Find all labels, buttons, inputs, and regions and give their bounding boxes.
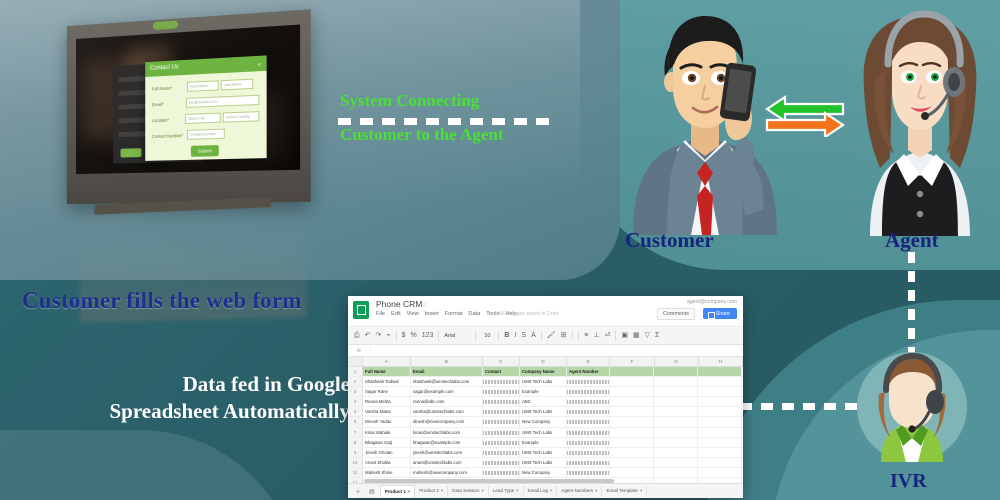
undo-icon[interactable]: ↶ [365, 332, 371, 339]
table-header-row: 1 Full Name Email Contact Company Name A… [348, 367, 743, 377]
label-customer: Customer [625, 228, 714, 253]
label-system-line2: Customer to the Agent [340, 126, 550, 143]
sheet-tab-label: Email Template [606, 488, 637, 493]
empty-cell[interactable] [654, 407, 698, 416]
select-all-corner[interactable] [348, 357, 363, 366]
label-customer-fills-webform: Customer fills the web form [22, 288, 302, 314]
close-icon[interactable]: × [257, 58, 261, 74]
table-row[interactable]: 5Varsha Malavvarsha@umstechlabs.com7831x… [348, 407, 743, 417]
cell-agent-number[interactable]: 022-63xxxxxxx [567, 397, 610, 406]
form-field-location: Location* Select City Select Country [152, 111, 259, 125]
fill-color-icon[interactable]: 🖌 [547, 332, 556, 339]
row-number[interactable]: 8 [348, 438, 363, 447]
cell-full-name[interactable]: Mahesh Shine [363, 468, 411, 477]
row-number[interactable]: 3 [348, 387, 363, 396]
comments-button[interactable]: Comments [657, 308, 695, 320]
empty-cell[interactable] [610, 468, 654, 477]
country-select[interactable]: Select Country [223, 111, 260, 123]
formula-bar[interactable]: fx [348, 345, 743, 357]
empty-cell[interactable] [698, 417, 742, 426]
label-data-fed: Data fed in Google Spreadsheet Automatic… [20, 371, 350, 425]
table-row[interactable]: 3Sagar Ranesagar@example.com9821xxxxxxxE… [348, 387, 743, 397]
contact-form-title: Contact Us [150, 64, 179, 71]
spreadsheet-title[interactable]: Phone CRM [376, 299, 422, 309]
cell-agent-number[interactable]: 022-63xxxxxxx [567, 377, 610, 386]
monitor-brand-logo-icon [153, 20, 178, 30]
account-email[interactable]: agent@company.com [687, 299, 737, 305]
chevron-down-icon[interactable]: ▾ [516, 488, 518, 493]
column-header-c[interactable]: C [483, 357, 520, 366]
borders-icon[interactable]: ⊞ [561, 332, 567, 339]
row-number[interactable]: 6 [348, 417, 363, 426]
column-header-h[interactable]: H [699, 357, 743, 366]
sheet-tab-bar: ＋ ▤ Product 1▾Product 2▾Data Session▾Lea… [348, 483, 743, 498]
connector-agent-to-ivr [908, 252, 915, 360]
connector-spreadsheet-to-ivr [740, 403, 862, 410]
row-number[interactable]: 4 [348, 397, 363, 406]
google-sheets-window: Phone CRM ☆ File Edit View Insert Format… [348, 296, 743, 498]
cell-email[interactable]: mahesh@newcompany.com [411, 468, 483, 477]
cell-company-name[interactable]: New Company [520, 417, 567, 426]
chevron-down-icon[interactable]: ▾ [482, 488, 484, 493]
chevron-down-icon[interactable]: ▾ [640, 488, 642, 493]
table-row[interactable]: 6Dinesh Yadavdinesh@newcompany.com9951xx… [348, 417, 743, 427]
two-way-connection-arrow [765, 93, 845, 137]
sheet-tab-product-2[interactable]: Product 2▾ [415, 486, 448, 497]
strikethrough-icon[interactable]: S [521, 332, 526, 339]
label-agent: Agent [885, 228, 939, 253]
cell-agent-number[interactable]: 022-63xxxxxxx [567, 428, 610, 437]
chevron-down-icon[interactable]: ▾ [441, 488, 443, 493]
menu-insert[interactable]: Insert [425, 311, 439, 317]
sheet-tab-product-1[interactable]: Product 1▾ [380, 485, 416, 497]
font-family-selector[interactable]: Arial [444, 333, 470, 339]
percent-icon[interactable]: % [410, 332, 416, 339]
sheet-tab-lead-type[interactable]: Lead Type▾ [489, 486, 524, 497]
filter-icon[interactable]: ▽ [645, 332, 650, 339]
header-company-name[interactable]: Company Name [520, 367, 567, 376]
empty-cell[interactable] [698, 458, 742, 467]
cell-email[interactable]: bhagwan@example.com [411, 438, 483, 447]
header-full-name[interactable]: Full Name [363, 367, 411, 376]
label-datafed-line1: Data fed in Google [183, 372, 350, 396]
empty-cell[interactable] [610, 367, 654, 376]
chevron-down-icon[interactable]: ▾ [550, 488, 552, 493]
cell-contact[interactable]: 7831xxxxxxx [483, 407, 520, 416]
background-webpage-button[interactable] [121, 148, 142, 157]
print-icon[interactable]: ⎙ [354, 332, 360, 339]
column-headers: A B C D E F G H [348, 357, 743, 367]
cell-company-name[interactable]: UMS Tech Labs [520, 377, 567, 386]
cell-contact[interactable]: 9894xxxxxxx [483, 377, 520, 386]
cell-full-name[interactable]: Shashank Todwal [363, 377, 411, 386]
cell-full-name[interactable]: Varsha Malav [363, 407, 411, 416]
empty-cell[interactable] [654, 387, 698, 396]
redo-icon[interactable]: ↷ [375, 332, 381, 339]
form-label-location: Location* [152, 117, 183, 123]
row-number[interactable]: 11 [348, 468, 363, 477]
menu-view[interactable]: View [407, 311, 419, 317]
header-agent-number[interactable]: Agent Number [567, 367, 610, 376]
agent-illustration [840, 8, 1000, 236]
submit-button[interactable]: Submit [191, 145, 219, 157]
list-icon[interactable]: ▤ [366, 488, 378, 495]
sheet-tab-email-log[interactable]: Email Log▾ [524, 486, 558, 497]
column-header-d[interactable]: D [520, 357, 567, 366]
empty-cell[interactable] [610, 417, 654, 426]
cell-contact[interactable]: 9805xxxxxxx [483, 397, 520, 406]
sheets-menubar: File Edit View Insert Format Data Tools … [376, 311, 517, 317]
functions-icon[interactable]: Σ [655, 332, 659, 339]
form-field-email: Email* info@domain.com [152, 95, 259, 110]
label-system-line1: System Connecting [340, 91, 479, 110]
header-email[interactable]: Email [411, 367, 483, 376]
contact-form-body: Full Name* First Name Last Name Email* i… [145, 71, 266, 158]
cell-company-name[interactable]: UMS Tech Labs [520, 407, 567, 416]
cell-company-name[interactable]: ABC [520, 397, 567, 406]
form-label-email: Email* [152, 101, 184, 107]
city-select[interactable]: Select City [185, 113, 221, 124]
empty-cell[interactable] [610, 387, 654, 396]
sheets-toolbar: ⎙ ↶ ↷ ⌁ $ % 123 Arial 10 B I S A 🖌 ⊞ ⫶ ≡… [348, 327, 743, 345]
star-icon[interactable]: ☆ [422, 301, 427, 308]
vertical-align-icon[interactable]: ⊥ [593, 332, 599, 339]
empty-cell[interactable] [610, 448, 654, 457]
row-number[interactable]: 2 [348, 377, 363, 386]
column-header-g[interactable]: G [655, 357, 699, 366]
form-label-fullname: Full Name* [152, 84, 185, 91]
cell-agent-number[interactable]: 022-63xxxxxxx [567, 458, 610, 467]
column-header-e[interactable]: E [567, 357, 610, 366]
cell-email[interactable]: varsha@umstechlabs.com [411, 407, 483, 416]
cell-contact[interactable]: 9951xxxxxxx [483, 417, 520, 426]
label-datafed-line2: Spreadsheet Automatically [109, 399, 350, 423]
empty-cell[interactable] [698, 387, 742, 396]
row-number[interactable]: 5 [348, 407, 363, 416]
text-wrap-icon[interactable]: ⏎ [604, 332, 610, 339]
cell-contact[interactable]: 9346xxxxxxx [483, 458, 520, 467]
contact-number-input[interactable]: Contact Number [187, 129, 225, 140]
empty-cell[interactable] [610, 428, 654, 437]
row-number[interactable]: 10 [348, 458, 363, 467]
contact-form-modal: Contact Us × Full Name* First Name Last … [145, 55, 266, 160]
label-system-connecting: System Connecting Customer to the Agent [340, 92, 550, 143]
font-size-selector[interactable]: 10 [481, 333, 493, 339]
empty-cell[interactable] [654, 367, 698, 376]
cell-full-name[interactable]: Anant Shukla [363, 458, 411, 467]
empty-cell[interactable] [610, 397, 654, 406]
cell-contact[interactable]: 7965xxxxxxx [483, 468, 520, 477]
menu-file[interactable]: File [376, 311, 385, 317]
empty-cell[interactable] [698, 438, 742, 447]
empty-cell[interactable] [654, 417, 698, 426]
cell-email[interactable]: dinesh@newcompany.com [411, 417, 483, 426]
sheet-tab-label: Product 2 [419, 488, 439, 493]
spreadsheet-grid[interactable]: A B C D E F G H 1 Full Name Email Contac… [348, 357, 743, 498]
google-sheets-icon [353, 301, 369, 319]
cell-company-name[interactable]: Example [520, 387, 567, 396]
currency-icon[interactable]: $ [402, 332, 406, 339]
cell-email[interactable]: shashank@umstechlabs.com [411, 377, 483, 386]
cell-agent-number[interactable]: 022-63xxxxxxx [567, 468, 610, 477]
form-label-contact: Contact Number* [152, 132, 185, 138]
sheet-tab-label: Email Log [528, 488, 548, 493]
bold-icon[interactable]: B [504, 332, 509, 339]
table-row[interactable]: 7Kiran Mahalekiran@umstechlabs.com7831xx… [348, 428, 743, 438]
cell-agent-number[interactable]: 022-63xxxxxxx [567, 438, 610, 447]
sheet-tab-email-template[interactable]: Email Template▾ [602, 486, 647, 497]
cell-full-name[interactable]: Kiran Mahale [363, 428, 411, 437]
table-row[interactable]: 11Mahesh Shinemahesh@newcompany.com7965x… [348, 468, 743, 478]
cell-agent-number[interactable]: 022-63xxxxxxx [567, 387, 610, 396]
last-name-input[interactable]: Last Name [221, 79, 253, 91]
plus-icon[interactable]: ＋ [352, 487, 364, 496]
menu-edit[interactable]: Edit [391, 311, 401, 317]
empty-cell[interactable] [698, 448, 742, 457]
empty-cell[interactable] [698, 377, 742, 386]
column-header-a[interactable]: A [363, 357, 411, 366]
text-color-icon[interactable]: A [531, 332, 536, 339]
cell-company-name[interactable]: UMS Tech Labs [520, 428, 567, 437]
empty-cell[interactable] [610, 377, 654, 386]
column-header-b[interactable]: B [411, 357, 483, 366]
empty-cell[interactable] [698, 397, 742, 406]
merge-cells-icon[interactable]: ⫶ [572, 332, 574, 339]
cell-email[interactable]: anant@umstechlabs.com [411, 458, 483, 467]
empty-cell[interactable] [654, 468, 698, 477]
cell-company-name[interactable]: New Company [520, 468, 567, 477]
insert-link-icon[interactable]: ▣ [621, 332, 628, 339]
cell-full-name[interactable]: Jinesh Gholan [363, 448, 411, 457]
cell-contact[interactable]: 9821xxxxxxx [483, 387, 520, 396]
table-row[interactable]: 10Anant Shuklaanant@umstechlabs.com9346x… [348, 458, 743, 468]
empty-cell[interactable] [654, 448, 698, 457]
form-field-contact: Contact Number* Contact Number [152, 128, 259, 141]
empty-cell[interactable] [654, 438, 698, 447]
sheet-tab-label: Agent Numbers [561, 488, 593, 493]
empty-cell[interactable] [654, 397, 698, 406]
cell-email[interactable]: sagar@example.com [411, 387, 483, 396]
empty-cell[interactable] [610, 407, 654, 416]
row-number[interactable]: 1 [348, 367, 363, 376]
table-row[interactable]: 8Bhagwan Garjbhagwan@example.com8861xxxx… [348, 438, 743, 448]
label-ivr: IVR [890, 470, 927, 493]
cell-agent-number[interactable]: 022-63xxxxxxx [567, 448, 610, 457]
empty-cell[interactable] [698, 428, 742, 437]
table-row[interactable]: 2Shashank Todwalshashank@umstechlabs.com… [348, 377, 743, 387]
empty-cell[interactable] [610, 438, 654, 447]
save-status: All changes saved in Drive [498, 311, 559, 317]
cell-email[interactable]: kiran@umstechlabs.com [411, 428, 483, 437]
ivr-badge [855, 350, 970, 465]
monitor-webform-illustration: Contact Us × Full Name* First Name Last … [60, 18, 310, 218]
first-name-input[interactable]: First Name [187, 80, 219, 92]
empty-cell[interactable] [610, 458, 654, 467]
diagram-canvas: Contact Us × Full Name* First Name Last … [0, 0, 1000, 500]
chevron-down-icon[interactable]: ▾ [595, 488, 597, 493]
table-row[interactable]: 9Jinesh Gholanjinesh@umstechlabs.com9963… [348, 448, 743, 458]
cell-company-name[interactable]: Example [520, 438, 567, 447]
email-input[interactable]: info@domain.com [186, 95, 260, 108]
menu-data[interactable]: Data [468, 311, 480, 317]
chevron-down-icon[interactable]: ▾ [408, 489, 410, 494]
cell-agent-number[interactable]: 022-63xxxxxxx [567, 407, 610, 416]
row-number[interactable]: 7 [348, 428, 363, 437]
sheet-tab-agent-numbers[interactable]: Agent Numbers▾ [557, 486, 602, 497]
sheets-header: Phone CRM ☆ File Edit View Insert Format… [348, 296, 743, 327]
insert-chart-icon[interactable]: ▦ [633, 332, 640, 339]
cell-email[interactable]: jinesh@umstechlabs.com [411, 448, 483, 457]
empty-cell[interactable] [698, 468, 742, 477]
empty-cell[interactable] [654, 458, 698, 467]
cell-full-name[interactable]: Dinesh Yadav [363, 417, 411, 426]
paint-format-icon[interactable]: ⌁ [386, 332, 390, 339]
share-button[interactable]: Share [703, 308, 737, 319]
menu-format[interactable]: Format [445, 311, 463, 317]
align-icon[interactable]: ≡ [584, 332, 588, 339]
cell-full-name[interactable]: Sagar Rane [363, 387, 411, 396]
cell-company-name[interactable]: UMS Tech Labs [520, 448, 567, 457]
empty-cell[interactable] [698, 367, 742, 376]
column-header-f[interactable]: F [610, 357, 654, 366]
header-contact[interactable]: Contact [483, 367, 520, 376]
cell-contact[interactable]: 9963xxxxxxx [483, 448, 520, 457]
cell-contact[interactable]: 8861xxxxxxx [483, 438, 520, 447]
cell-email[interactable]: reena@abc.com [411, 397, 483, 406]
monitor-screen: Contact Us × Full Name* First Name Last … [76, 25, 300, 175]
cell-agent-number[interactable]: 022-63xxxxxxx [567, 417, 610, 426]
cell-contact[interactable]: 7831xxxxxxx [483, 428, 520, 437]
cell-full-name[interactable]: Reena Mehta [363, 397, 411, 406]
cell-company-name[interactable]: UMS Tech Labs [520, 458, 567, 467]
sheet-tab-label: Lead Type [493, 488, 514, 493]
fx-label: fx [348, 348, 371, 354]
form-field-fullname: Full Name* First Name Last Name [152, 78, 259, 93]
sheet-tab-data-session[interactable]: Data Session▾ [448, 486, 489, 497]
number-format-icon[interactable]: 123 [422, 332, 434, 339]
empty-cell[interactable] [654, 377, 698, 386]
italic-icon[interactable]: I [514, 332, 516, 339]
sheet-tab-label: Data Session [452, 488, 479, 493]
empty-cell[interactable] [698, 407, 742, 416]
table-row[interactable]: 4Reena Mehtareena@abc.com9805xxxxxxxABC0… [348, 397, 743, 407]
empty-cell[interactable] [654, 428, 698, 437]
sheet-tab-label: Product 1 [385, 489, 406, 494]
cell-full-name[interactable]: Bhagwan Garj [363, 438, 411, 447]
row-number[interactable]: 9 [348, 448, 363, 457]
monitor-frame: Contact Us × Full Name* First Name Last … [67, 9, 311, 204]
